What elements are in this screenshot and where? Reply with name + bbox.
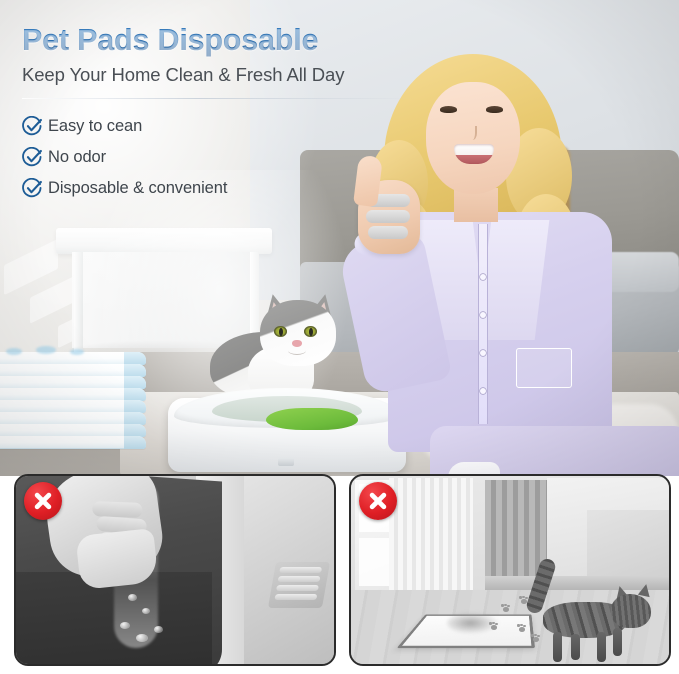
red-x-badge — [24, 482, 62, 520]
panel-photo — [16, 476, 334, 664]
pad-stack — [0, 352, 148, 458]
tracked-mess-panel — [349, 474, 671, 666]
nose — [468, 126, 477, 140]
divider — [22, 98, 414, 99]
feature-bullet: No odor — [22, 142, 442, 173]
feature-bullet: Easy to cean — [22, 111, 442, 142]
pajama-pocket — [516, 348, 572, 388]
feature-bullet-label: No odor — [48, 148, 106, 167]
kitten-head — [611, 594, 651, 628]
check-circle-icon — [22, 147, 43, 168]
check-circle-icon — [22, 178, 43, 199]
kitten-walking — [539, 580, 663, 666]
hero-text-block: Pet Pads Disposable Keep Your Home Clean… — [22, 24, 442, 204]
hero-scene: Pet Pads Disposable Keep Your Home Clean… — [0, 0, 679, 476]
red-x-badge — [359, 482, 397, 520]
feature-bullet-label: Easy to cean — [48, 117, 142, 136]
sink-drain — [268, 562, 330, 608]
paw-print — [517, 624, 526, 632]
feature-bullet-list: Easy to cean No odor — [22, 111, 442, 204]
messy-cleaning-panel — [14, 474, 336, 666]
check-circle-icon — [22, 116, 43, 137]
product-listing-image: Pet Pads Disposable Keep Your Home Clean… — [0, 0, 679, 674]
litter-box-latch — [278, 458, 294, 466]
cat-mouth — [288, 346, 306, 355]
page-title: Pet Pads Disposable — [22, 24, 442, 58]
sheer-curtain — [389, 478, 473, 604]
feature-bullet: Disposable & convenient — [22, 173, 442, 204]
cat-head — [260, 300, 336, 366]
paw-print — [489, 622, 498, 630]
page-subtitle: Keep Your Home Clean & Fresh All Day — [22, 64, 442, 86]
paw-print — [501, 604, 510, 612]
pajama-placket — [478, 224, 488, 424]
panel-photo — [351, 476, 669, 664]
comparison-panels — [0, 474, 679, 674]
feature-bullet-label: Disposable & convenient — [48, 179, 227, 198]
